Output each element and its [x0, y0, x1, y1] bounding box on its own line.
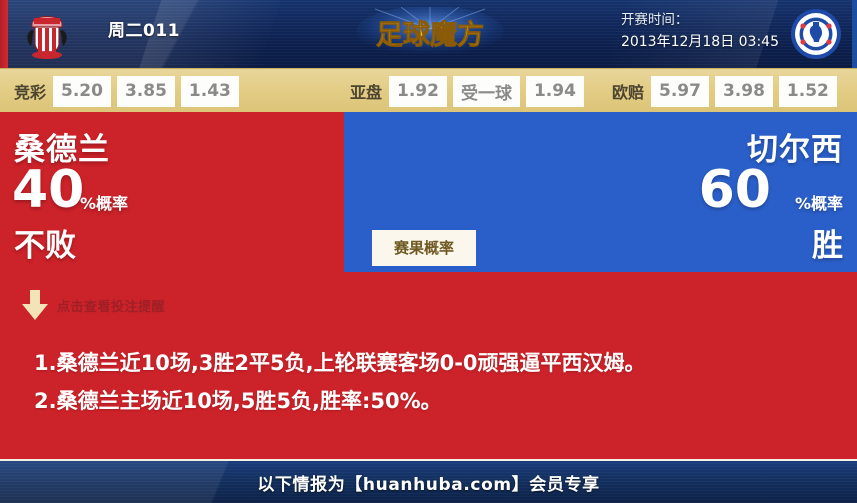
betting-reminder-toggle[interactable]: 点击查看投注提醒 [22, 290, 165, 320]
header-left-red-strip [0, 0, 8, 68]
list-item: 1.桑德兰近10场,3胜2平5负,上轮联赛客场0-0顽强逼平西汉姆。 [34, 344, 834, 382]
kickoff-block: 开赛时间： 2013年12月18日 03:45 [621, 10, 779, 53]
odds-cell-away[interactable]: 1.94 [526, 76, 584, 107]
odds-cell-home[interactable]: 5.20 [53, 76, 111, 107]
arrow-down-icon [22, 290, 48, 320]
away-probability-unit: %概率 [795, 190, 843, 214]
odds-cell-draw[interactable]: 3.85 [117, 76, 175, 107]
brand-logo-icon[interactable]: 足球魔方 [355, 7, 505, 61]
footer-notice-text: 以下情报为【huanhuba.com】会员专享 [257, 470, 599, 495]
brand-logo-text: 足球魔方 [376, 19, 484, 51]
odds-group-european: 欧赔 5.97 3.98 1.52 [612, 69, 843, 113]
away-probability-value: 60 [699, 164, 771, 216]
match-round-label: 周二011 [108, 16, 180, 41]
match-header: 周二011 足球魔方 [0, 0, 857, 68]
odds-group-jingcai: 竞彩 5.20 3.85 1.43 [14, 69, 245, 113]
odds-cell-draw[interactable]: 3.98 [715, 76, 773, 107]
home-probability-unit: %概率 [80, 190, 128, 214]
away-probability-result: 胜 [812, 220, 843, 265]
chelsea-crest-icon [790, 8, 842, 60]
footer-bar: 以下情报为【huanhuba.com】会员专享 [0, 459, 857, 503]
probability-panel: 桑德兰 40 %概率 不败 切尔西 60 %概率 胜 赛果概率 本场比赛桑德兰获… [0, 112, 857, 272]
odds-bar: 竞彩 5.20 3.85 1.43 亚盘 1.92 受一球 1.94 欧赔 5.… [0, 68, 857, 114]
sunderland-crest-icon [20, 8, 74, 60]
tips-list: 1.桑德兰近10场,3胜2平5负,上轮联赛客场0-0顽强逼平西汉姆。 2.桑德兰… [34, 344, 834, 420]
odds-group-title: 欧赔 [612, 79, 644, 103]
match-preview-card: 周二011 足球魔方 [0, 0, 857, 501]
odds-group-title: 亚盘 [350, 79, 382, 103]
odds-cell-home[interactable]: 5.97 [651, 76, 709, 107]
odds-cell-away[interactable]: 1.52 [779, 76, 837, 107]
home-probability-panel: 桑德兰 40 %概率 不败 [0, 112, 344, 272]
kickoff-value: 2013年12月18日 03:45 [621, 31, 779, 53]
odds-cell-handicap[interactable]: 受一球 [453, 76, 520, 107]
odds-cell-home[interactable]: 1.92 [389, 76, 447, 107]
tips-section: 点击查看投注提醒 1.桑德兰近10场,3胜2平5负,上轮联赛客场0-0顽强逼平西… [0, 272, 857, 455]
home-probability-result: 不败 [14, 220, 76, 265]
kickoff-label: 开赛时间： [621, 10, 779, 31]
probability-section-tab: 赛果概率 [372, 230, 476, 266]
list-item: 2.桑德兰主场近10场,5胜5负,胜率:50%。 [34, 382, 834, 420]
odds-cell-away[interactable]: 1.43 [181, 76, 239, 107]
odds-group-title: 竞彩 [14, 79, 46, 103]
odds-group-asian: 亚盘 1.92 受一球 1.94 [350, 69, 590, 113]
betting-reminder-label: 点击查看投注提醒 [57, 296, 165, 315]
home-probability-value: 40 [12, 164, 84, 216]
header-right-blue-strip [852, 0, 857, 68]
